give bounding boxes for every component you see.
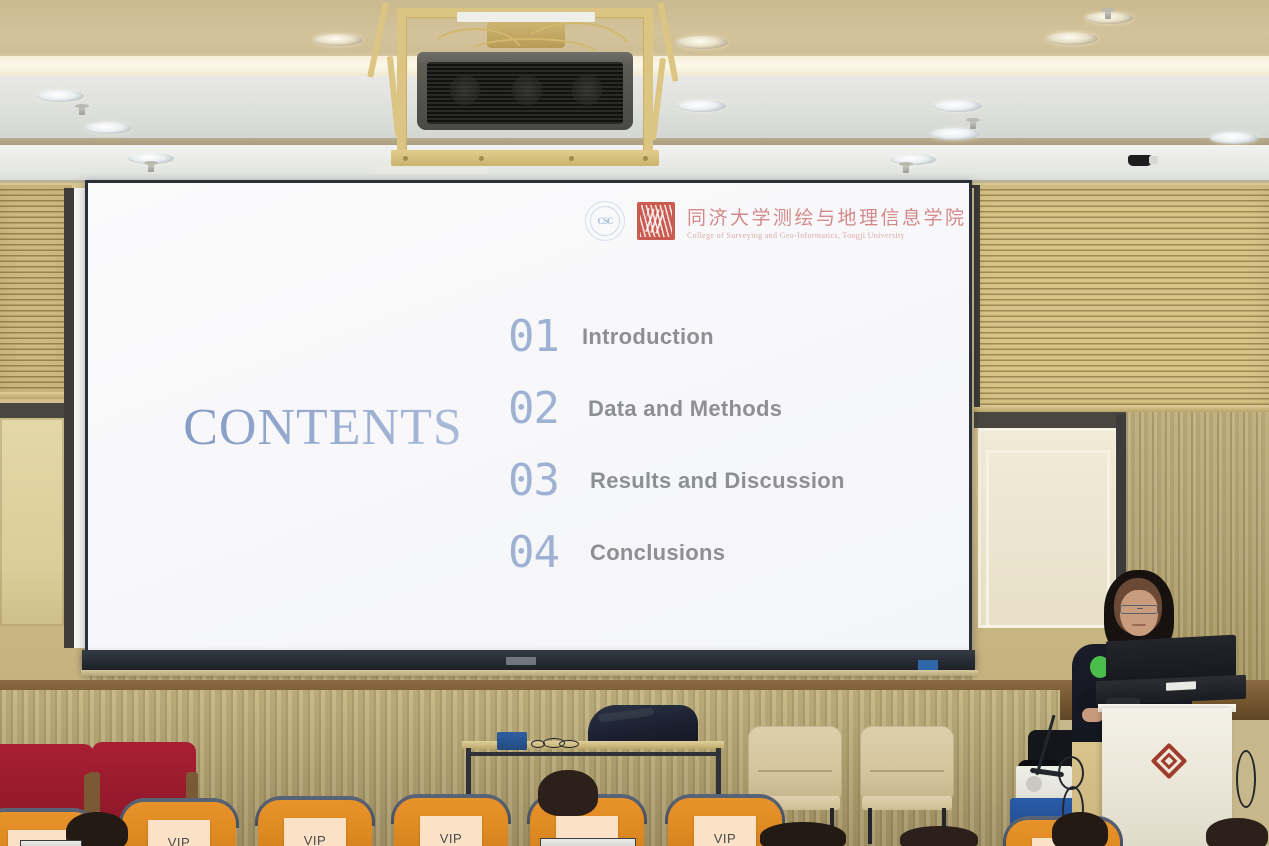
slide-logo-text: 同济大学测绘与地理信息学院 College of Surveying and G… (687, 203, 967, 240)
audience-head (900, 826, 978, 846)
vip-label: VIP (168, 835, 190, 846)
cage-arm (367, 2, 389, 78)
slide-title: CONTENTS (148, 398, 498, 457)
screen-bottom-bar (82, 650, 975, 672)
toc-item-04: 04 Conclusions (508, 517, 938, 589)
downlight-icon (313, 34, 363, 46)
toc-label: Results and Discussion (590, 468, 845, 494)
vip-placard: VIP (694, 816, 756, 846)
toc-item-03: 03 Results and Discussion (508, 445, 938, 517)
sprinkler-head-icon (903, 164, 909, 173)
toc-item-02: 02 Data and Methods (508, 373, 938, 445)
projector-vent-grill (427, 62, 623, 124)
lecture-hall-photo: CSC 同济大学测绘与地理信息学院 College of Surveying a… (0, 0, 1269, 846)
wall-slat-panel-left (0, 185, 72, 395)
downlight-icon (932, 100, 982, 112)
toc-label: Data and Methods (588, 396, 782, 422)
vip-placard: VIP (284, 818, 346, 846)
downlight-icon (36, 90, 84, 102)
tongji-red-stamp-icon (637, 202, 675, 240)
wall-slat-lip (0, 392, 74, 399)
downlight-icon (676, 100, 726, 112)
projection-screen-assembly: CSC 同济大学测绘与地理信息学院 College of Surveying a… (85, 180, 972, 675)
security-camera-icon (1128, 155, 1152, 166)
projector-ceiling-bracket (457, 12, 595, 22)
vip-label: VIP (304, 833, 326, 846)
ceiling-projector-assembly (369, 0, 683, 170)
presenter-mouth (1132, 624, 1146, 626)
toc-label: Conclusions (590, 540, 725, 566)
podium-area (1010, 560, 1269, 846)
screen-edge-marker (918, 660, 938, 670)
slide-toc-list: 01 Introduction 02 Data and Methods 03 R… (508, 301, 938, 589)
institution-name-cn: 同济大学测绘与地理信息学院 (687, 203, 967, 230)
toc-number: 03 (508, 459, 570, 503)
cable-loop-icon (1236, 750, 1256, 808)
downlight-icon (890, 154, 936, 165)
audience-head (760, 822, 846, 846)
projection-screen-frame: CSC 同济大学测绘与地理信息学院 College of Surveying a… (85, 180, 972, 660)
vip-placard: VIP (148, 820, 210, 846)
toc-label: Introduction (582, 324, 714, 350)
vip-placard: VIP (420, 816, 482, 846)
sprinkler-head-icon (1105, 10, 1111, 19)
sprinkler-head-icon (148, 163, 154, 172)
wall-panel-left (0, 418, 64, 626)
downlight-icon (1210, 132, 1258, 144)
toc-number: 04 (508, 531, 570, 575)
screen-shelf-ledge (81, 670, 978, 676)
audience-laptop (20, 840, 82, 846)
window-mullion-left (64, 188, 74, 648)
screen-brand-label (506, 657, 536, 665)
wall-slat-lip-right (972, 405, 1269, 412)
csc-seal-text: CSC (597, 216, 612, 226)
audience-laptop (540, 838, 636, 846)
downlight-icon (930, 128, 980, 140)
audience-head (1206, 818, 1268, 846)
sprinkler-head-icon (970, 120, 976, 129)
wall-slat-panel-right (972, 185, 1269, 407)
downlight-icon (676, 36, 728, 49)
laptop-sticker (1166, 681, 1196, 691)
csc-circular-seal-icon: CSC (585, 201, 625, 241)
presenter-glasses-icon (1120, 605, 1158, 614)
blue-box-on-table (497, 732, 527, 750)
audience-head (538, 770, 598, 816)
institution-name-en: College of Surveying and Geo-Informatics… (687, 231, 967, 240)
slide-logo-group: CSC 同济大学测绘与地理信息学院 College of Surveying a… (585, 197, 967, 245)
cables-on-table (531, 738, 581, 749)
toc-item-01: 01 Introduction (508, 301, 938, 373)
audience-head (1052, 812, 1108, 846)
vip-label: VIP (440, 831, 462, 846)
side-table-leg (716, 748, 721, 794)
ac-unit-knob-icon (1026, 776, 1042, 792)
wall-reveal-shadow (0, 403, 74, 419)
side-table-rail (466, 752, 720, 756)
toc-number: 02 (508, 387, 570, 431)
downlight-icon (84, 122, 132, 134)
projector-cage-base-plate (391, 150, 659, 166)
presentation-slide: CSC 同济大学测绘与地理信息学院 College of Surveying a… (88, 183, 969, 657)
vip-label: VIP (714, 831, 736, 846)
sprinkler-head-icon (79, 106, 85, 115)
downlight-icon (1046, 32, 1098, 45)
toc-number: 01 (508, 315, 570, 359)
side-table-leg (466, 748, 471, 794)
